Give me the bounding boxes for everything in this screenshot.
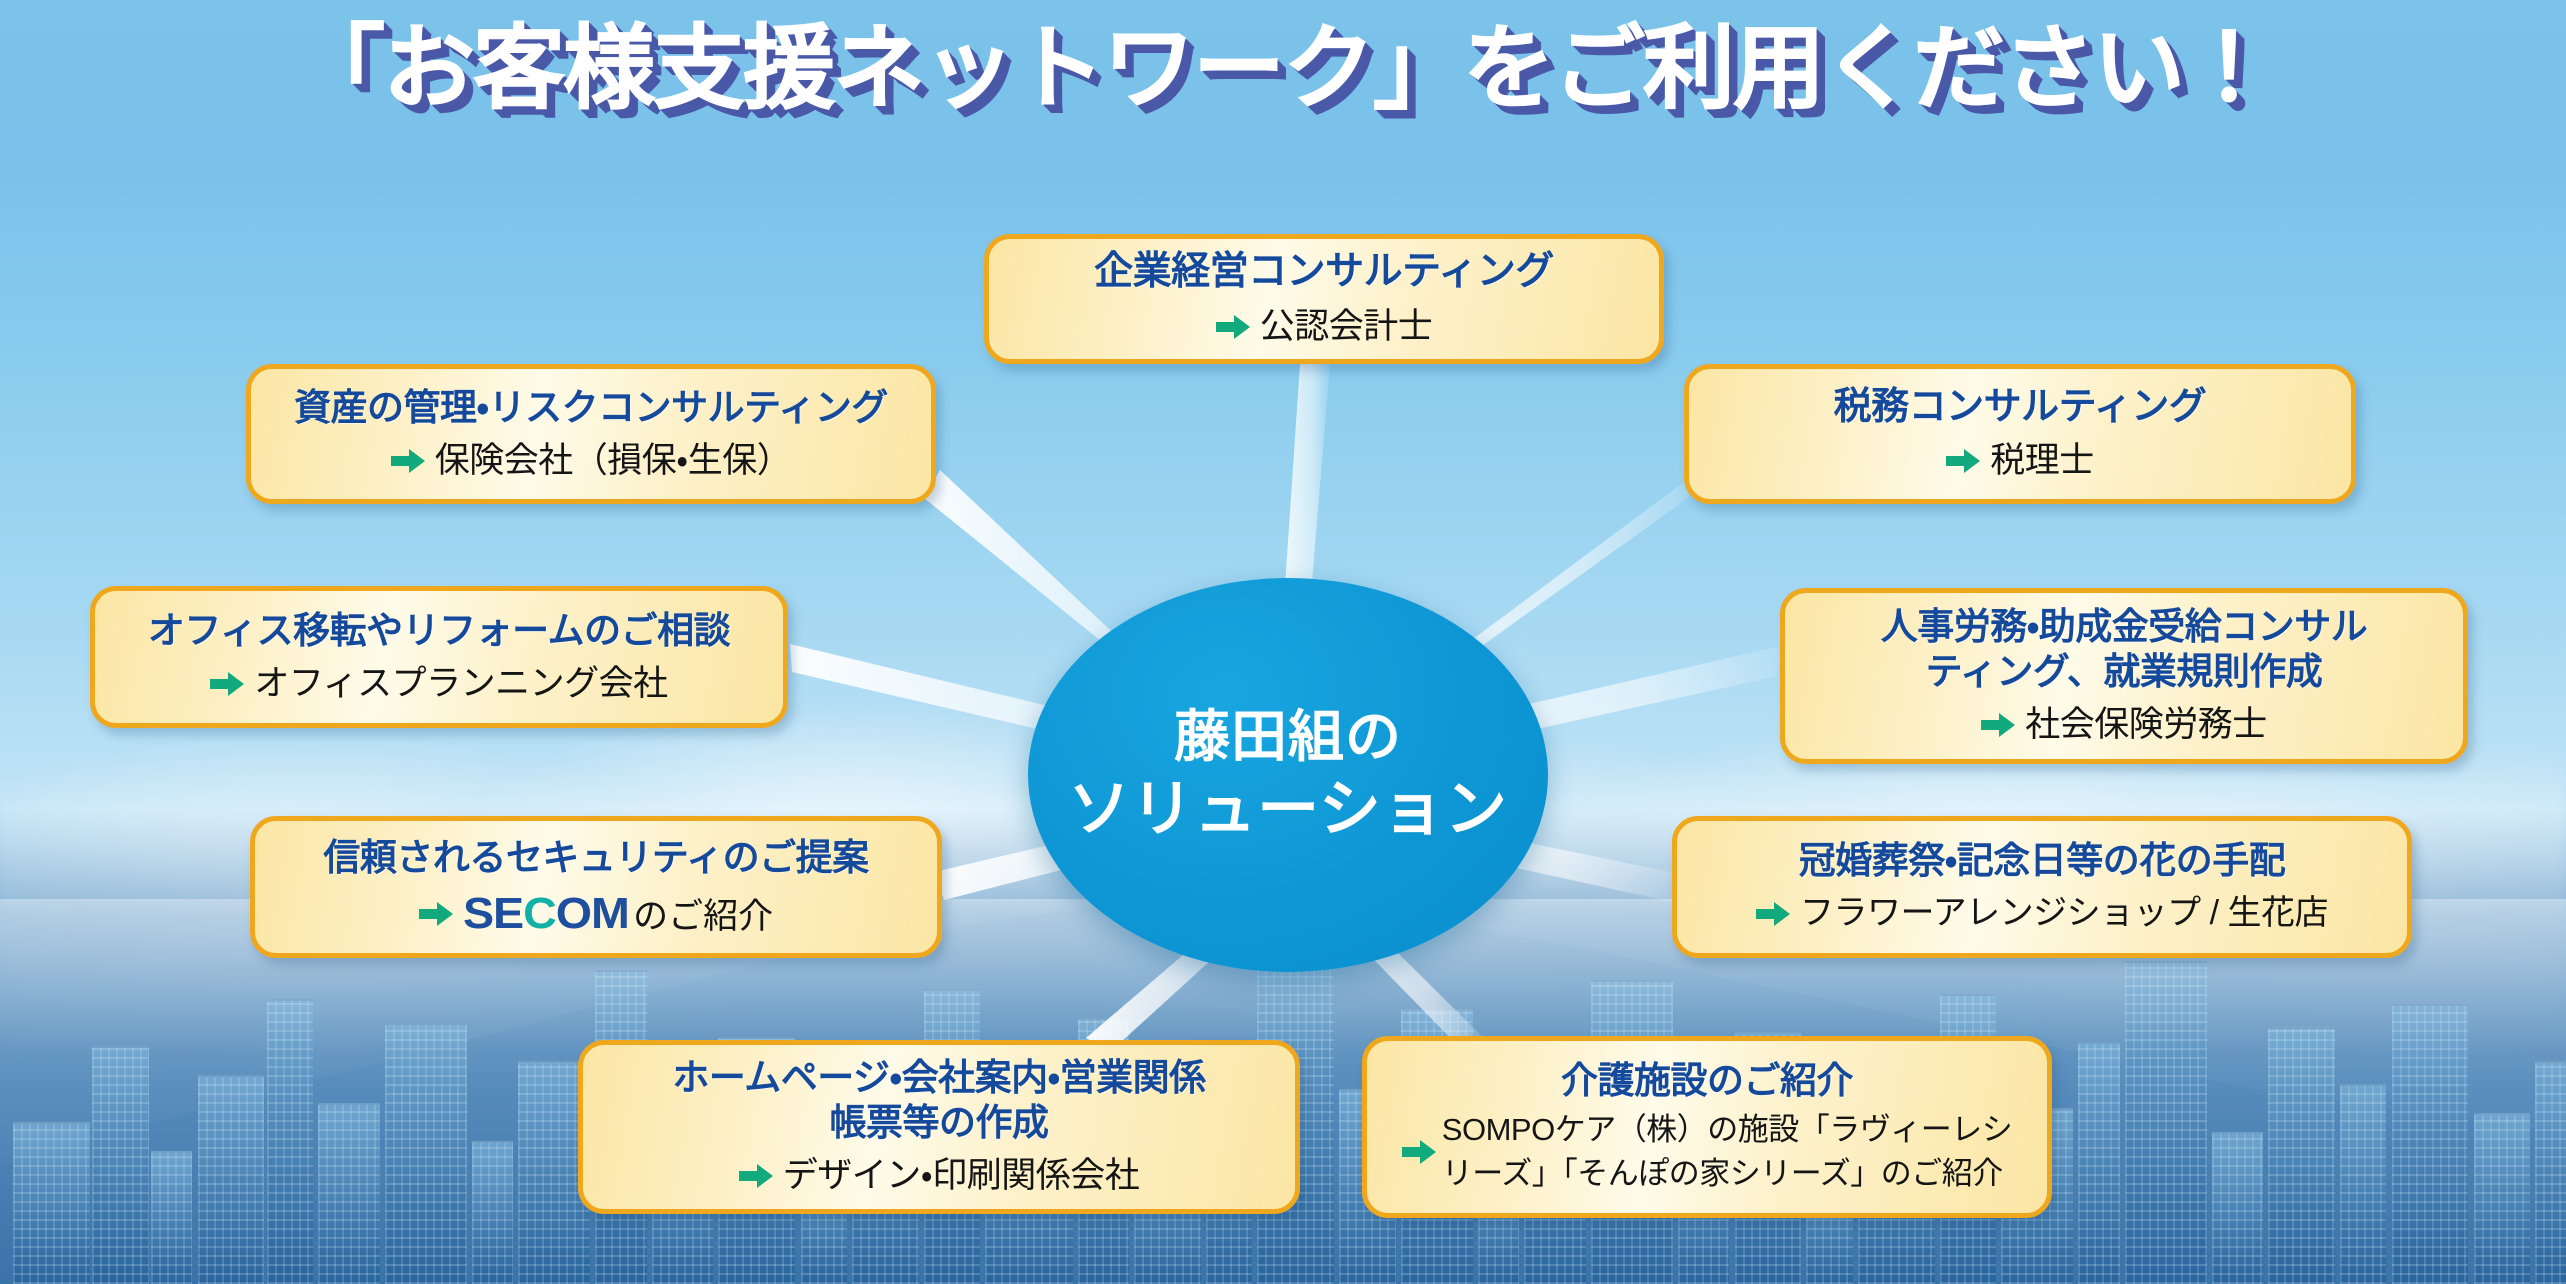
right-arrow-icon <box>1216 314 1250 340</box>
card-subline: フラワーアレンジショップ / 生花店 <box>1756 891 2328 935</box>
card-care-facility[interactable]: 介護施設のご紹介 SOMPOケア（株）の施設「ラヴィーレシ リーズ」「そんぽの家… <box>1362 1036 2052 1218</box>
card-subline: オフィスプランニング会社 <box>210 661 667 707</box>
card-sub-text: 公認会計士 <box>1260 304 1433 350</box>
right-arrow-icon <box>1756 901 1790 927</box>
card-subline: 社会保険労務士 <box>1981 702 2267 748</box>
card-sub-text-line-2: リーズ」「そんぽの家シリーズ」のご紹介 <box>1442 1152 2012 1196</box>
card-subline: SOMPOケア（株）の施設「ラヴィーレシ リーズ」「そんぽの家シリーズ」のご紹介 <box>1402 1108 2012 1196</box>
card-sub-text: のご紹介 <box>633 888 773 939</box>
poster-canvas: 「お客様支援ネットワーク」をご利用ください！ 藤田組の ソリューション 企業経営… <box>0 0 2566 1284</box>
card-sub-text: フラワーアレンジショップ / 生花店 <box>1800 891 2328 935</box>
title-part-a: 「お客様支援ネット <box>293 18 1103 120</box>
hub-ellipse: 藤田組の ソリューション <box>1028 578 1548 972</box>
right-arrow-icon <box>1981 712 2015 738</box>
card-sub-text: 社会保険労務士 <box>2025 702 2267 748</box>
card-headline-line-1: 人事労務・助成金受給コンサル <box>1881 604 2368 649</box>
card-web-print-production[interactable]: ホームページ・会社案内・営業関係 帳票等の作成 デザイン・印刷関係会社 <box>578 1040 1300 1214</box>
card-headline: 資産の管理・リスクコンサルティング <box>294 385 888 430</box>
title-part-b: ワーク <box>1103 18 1373 120</box>
card-headline: 冠婚葬祭・記念日等の花の手配 <box>1799 838 2286 883</box>
card-subline: 保険会社（損保・生保） <box>391 438 791 484</box>
card-security-proposal[interactable]: 信頼されるセキュリティのご提案 SECOM のご紹介 <box>250 816 942 958</box>
hub-line-1: 藤田組の <box>1174 706 1402 769</box>
page-title: 「お客様支援ネットワーク」をご利用ください！ <box>0 14 2566 124</box>
card-sub-text: オフィスプランニング会社 <box>254 661 667 707</box>
card-headline: 税務コンサルティング <box>1834 384 2207 430</box>
card-subline: 税理士 <box>1946 438 2094 484</box>
card-headline: 企業経営コンサルティング <box>1094 248 1554 296</box>
title-part-c: 」をご利用ください！ <box>1373 18 2273 120</box>
card-headline-line-1: ホームページ・会社案内・営業関係 <box>672 1055 1205 1100</box>
card-asset-risk-consulting[interactable]: 資産の管理・リスクコンサルティング 保険会社（損保・生保） <box>246 364 936 504</box>
card-headline: オフィス移転やリフォームのご相談 <box>148 608 730 653</box>
card-subline: 公認会計士 <box>1216 304 1433 350</box>
page-title-text: 「お客様支援ネットワーク」をご利用ください！ <box>293 23 2273 115</box>
card-subline: SECOM のご紹介 <box>419 888 773 939</box>
card-sub-text: 税理士 <box>1990 438 2094 484</box>
card-business-consulting[interactable]: 企業経営コンサルティング 公認会計士 <box>984 234 1664 364</box>
secom-logo-c: C <box>523 889 556 939</box>
secom-logo-om: OM <box>556 889 629 939</box>
card-hr-labor-consulting[interactable]: 人事労務・助成金受給コンサル ティング、就業規則作成 社会保険労務士 <box>1780 588 2468 764</box>
card-sub-text-block: SOMPOケア（株）の施設「ラヴィーレシ リーズ」「そんぽの家シリーズ」のご紹介 <box>1442 1108 2012 1196</box>
right-arrow-icon <box>1402 1139 1436 1165</box>
right-arrow-icon <box>391 448 425 474</box>
secom-logo-se: SE <box>463 889 523 939</box>
right-arrow-icon <box>1946 448 1980 474</box>
card-headline: 介護施設のご紹介 <box>1561 1058 1853 1103</box>
right-arrow-icon <box>419 901 453 927</box>
card-headline: 信頼されるセキュリティのご提案 <box>323 835 868 880</box>
card-tax-consulting[interactable]: 税務コンサルティング 税理士 <box>1684 364 2356 504</box>
card-sub-text: デザイン・印刷関係会社 <box>783 1153 1139 1199</box>
right-arrow-icon <box>210 671 244 697</box>
secom-logo: SECOM <box>463 889 629 939</box>
card-sub-text: 保険会社（損保・生保） <box>435 438 791 484</box>
hub-line-2: ソリューション <box>1068 775 1508 844</box>
card-headline-line-2: ティング、就業規則作成 <box>1926 649 2323 694</box>
card-office-relocation[interactable]: オフィス移転やリフォームのご相談 オフィスプランニング会社 <box>90 586 788 728</box>
right-arrow-icon <box>739 1163 773 1189</box>
card-headline-line-2: 帳票等の作成 <box>830 1100 1049 1145</box>
card-subline: デザイン・印刷関係会社 <box>739 1153 1139 1199</box>
card-flower-arrangement[interactable]: 冠婚葬祭・記念日等の花の手配 フラワーアレンジショップ / 生花店 <box>1672 816 2412 958</box>
card-sub-text-line-1: SOMPOケア（株）の施設「ラヴィーレシ <box>1442 1108 2012 1152</box>
